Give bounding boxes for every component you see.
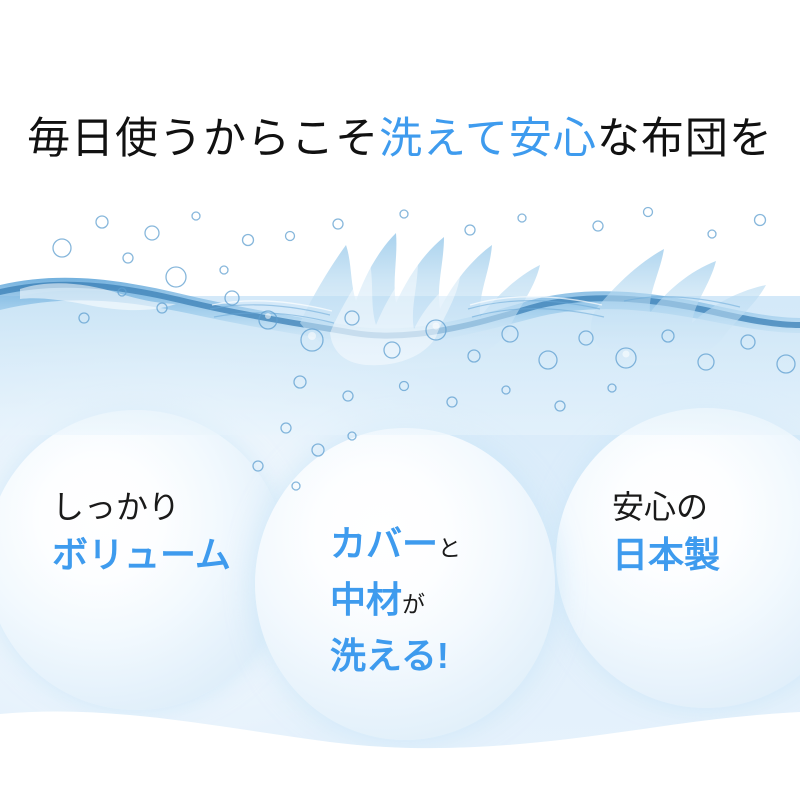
feature-caption-made-in-japan: 安心の 日本製 [612, 484, 720, 580]
promo-banner: 毎日使うからこそ洗えて安心な布団を しっかり ボリューム カバーと 中材が 洗え… [0, 0, 800, 800]
feature-japan-line2: 日本製 [612, 530, 720, 580]
headline-part2: な布団を [597, 116, 773, 163]
white-wave-shape [0, 670, 800, 800]
feature-volume-line2: ボリューム [52, 530, 231, 580]
feature-washable-row-1: カバーと [330, 520, 461, 576]
feature-washable-row2-black: が [402, 591, 425, 617]
feature-washable-row2-blue: 中材 [330, 579, 402, 620]
feature-japan-line1: 安心の [612, 484, 720, 530]
feature-washable-row1-black: と [438, 535, 461, 561]
feature-caption-washable: カバーと 中材が 洗える! [330, 520, 461, 688]
feature-volume-line1: しっかり [52, 484, 231, 530]
page-title: 毎日使うからこそ洗えて安心な布団を [0, 112, 800, 168]
headline-highlight: 洗えて安心 [379, 116, 597, 163]
water-splash-icon [0, 205, 800, 435]
headline-part1: 毎日使うからこそ [27, 116, 379, 163]
feature-caption-volume: しっかり ボリューム [52, 484, 231, 580]
feature-washable-row1-blue: カバー [330, 523, 438, 564]
feature-washable-row-2: 中材が [330, 576, 461, 632]
